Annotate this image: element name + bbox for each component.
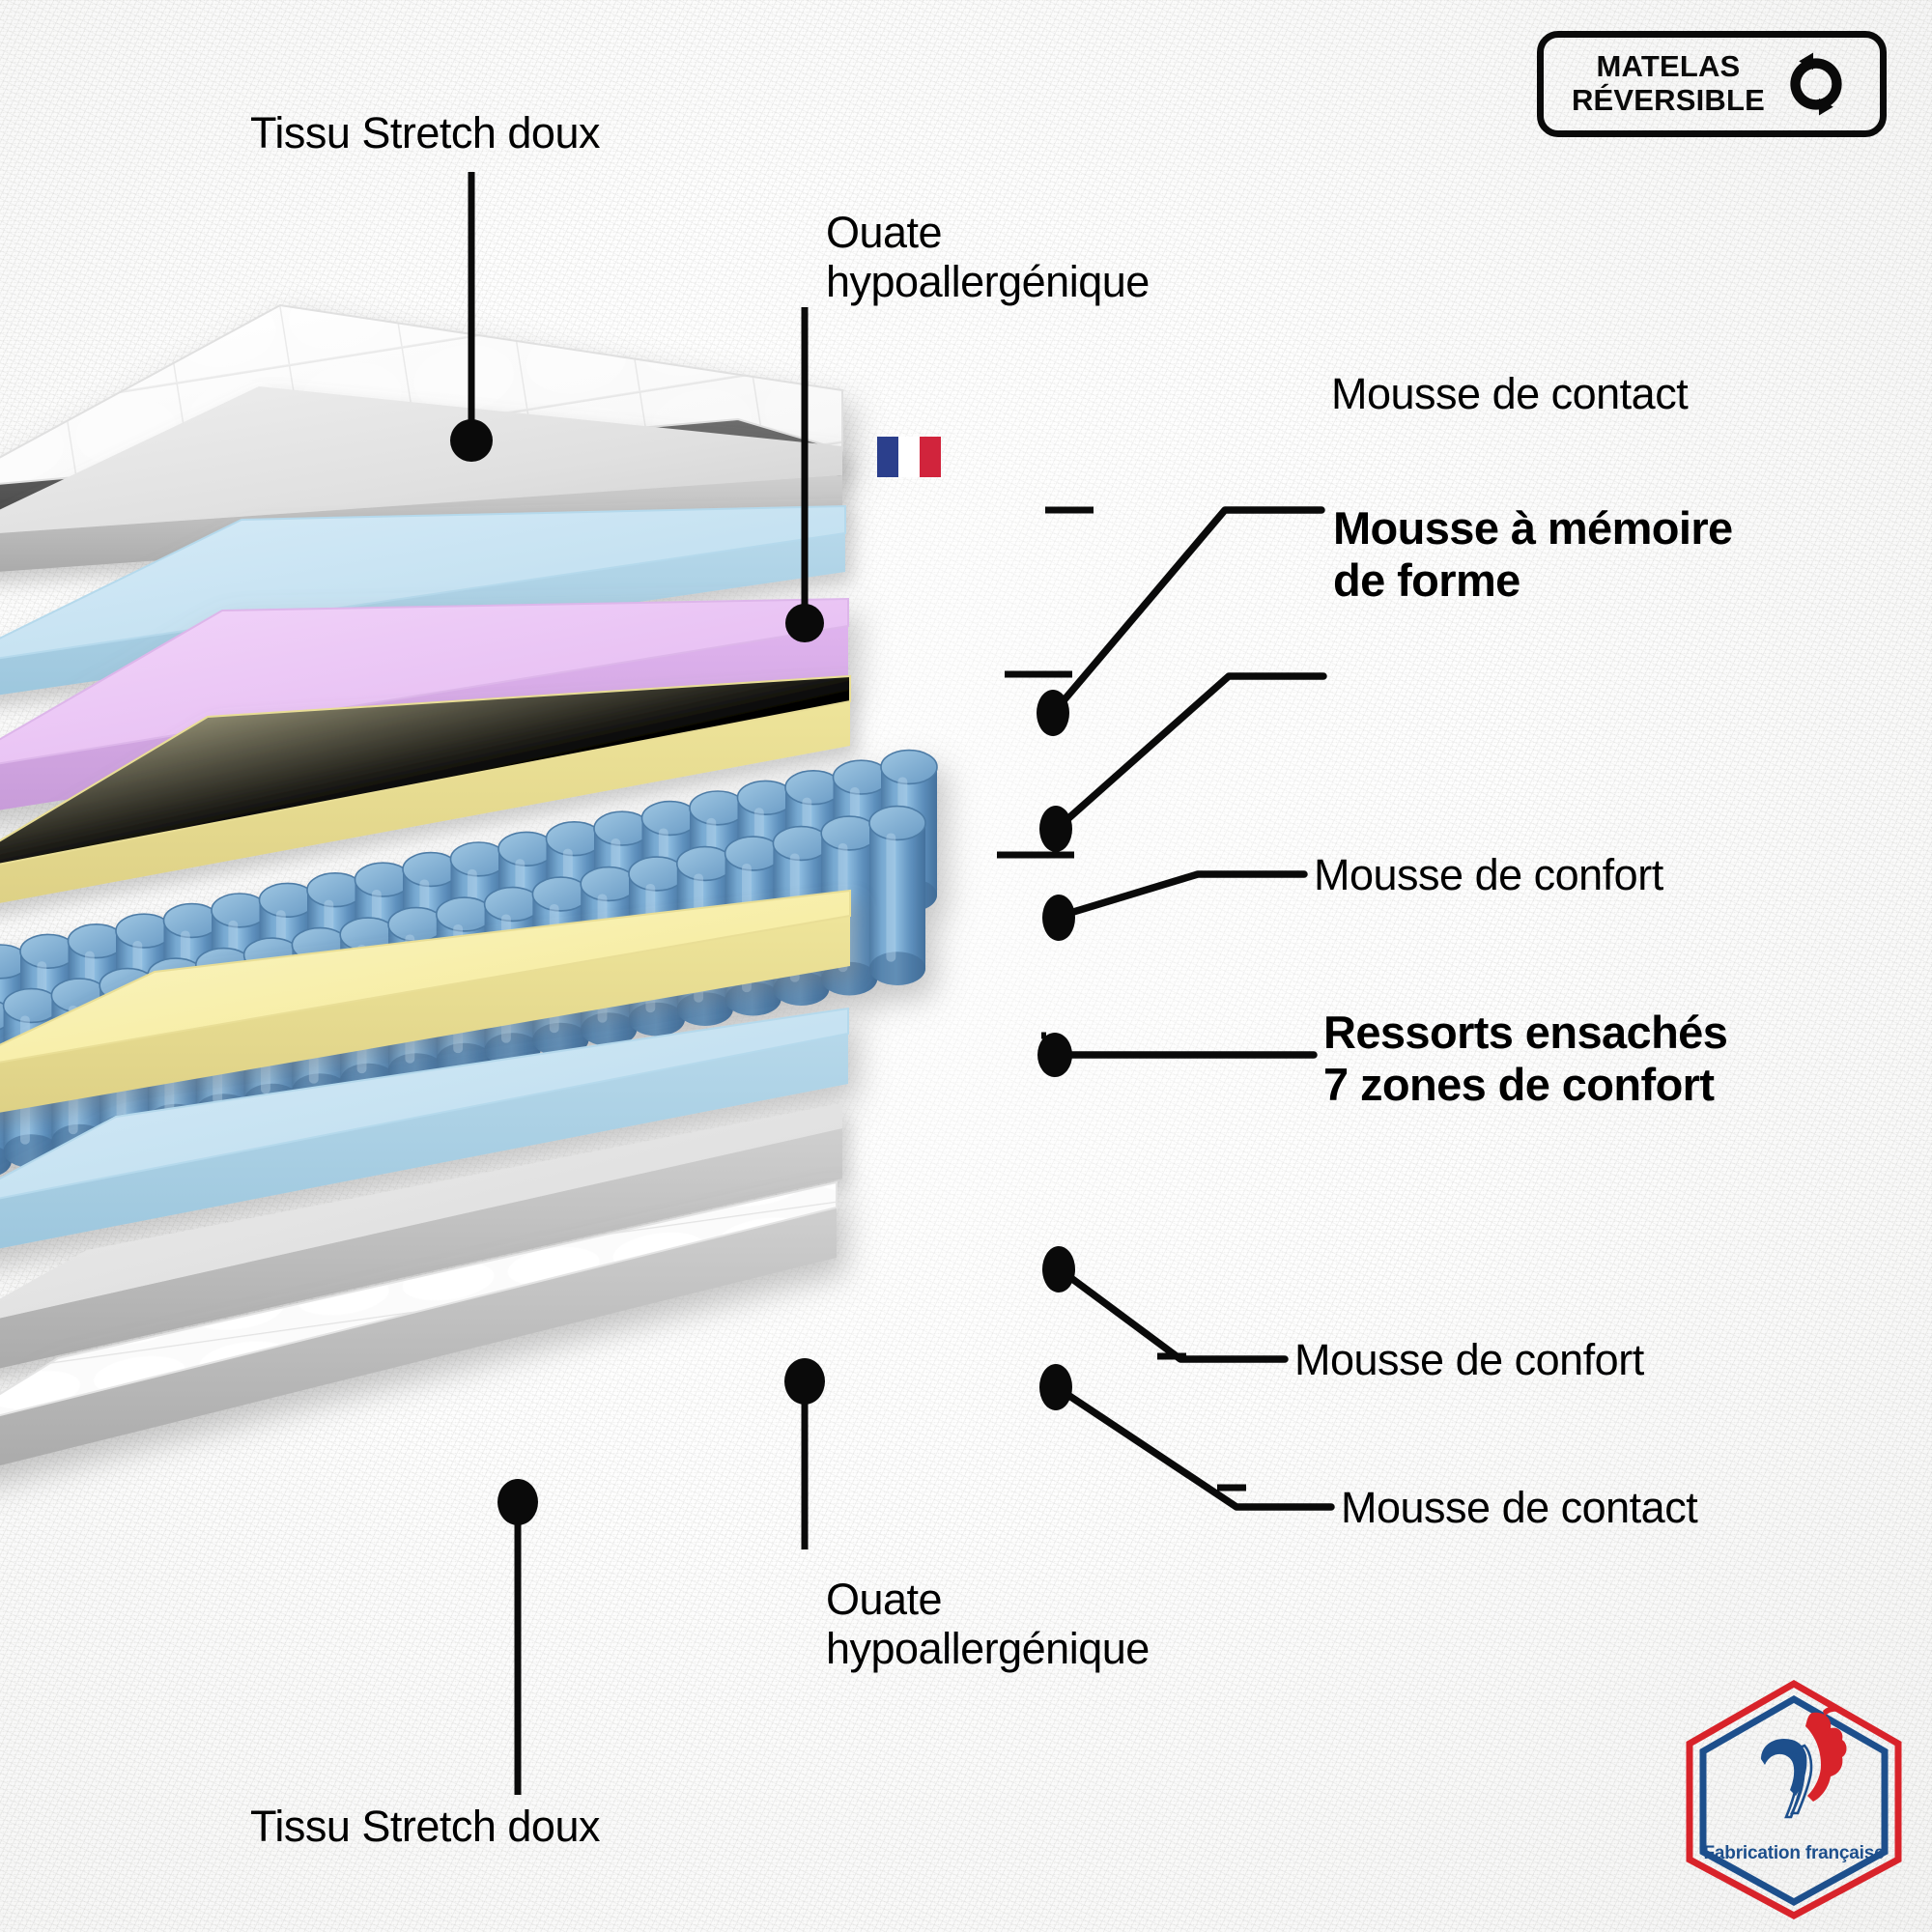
label-contact-foam-top: Mousse de contact (1331, 369, 1688, 418)
elbow-contact-bottom (1058, 1388, 1331, 1507)
label-top-wadding: Ouate hypoallergénique (826, 208, 1150, 307)
layer-top-contact-foam (0, 506, 845, 703)
leader-elbows (1055, 510, 1331, 1507)
pocket-spring (834, 760, 890, 922)
reversible-badge-text: MATELAS RÉVERSIBLE (1572, 50, 1765, 117)
pocket-spring (403, 853, 459, 1014)
layer-bottom-comfort-foam (0, 891, 850, 1122)
pocket-spring (869, 807, 925, 985)
pocket-spring (212, 894, 268, 1055)
pocket-spring (785, 771, 841, 932)
dot-memory (1039, 806, 1072, 852)
pocket-spring (532, 877, 588, 1056)
pocket-spring (340, 918, 396, 1096)
pocket-spring (581, 867, 637, 1046)
label-top-fabric: Tissu Stretch doux (250, 108, 600, 157)
elbow-contact-top (1055, 510, 1321, 711)
label-bottom-wadding: Ouate hypoallergénique (826, 1575, 1150, 1674)
pocket-spring (0, 999, 12, 1178)
layer-top-comfort-foam (0, 676, 850, 914)
layer-bottom-quilted-cover (0, 1182, 837, 1480)
dot-contact-bottom (1039, 1364, 1072, 1410)
pocket-spring (116, 914, 172, 1075)
french-badge-caption: Fabrication française (1678, 1843, 1910, 1864)
layer-bottom-wadding (0, 1103, 842, 1381)
label-memory-foam: Mousse à mémoire de forme (1333, 502, 1733, 606)
layer-top-wadding (0, 386, 842, 576)
pocket-spring (244, 938, 300, 1117)
mattress-layer-diagram: Tissu Stretch doux Ouate hypoallergéniqu… (0, 0, 1932, 1932)
pocket-spring (0, 945, 29, 1106)
pocket-spring (260, 883, 316, 1044)
pocket-spring (4, 989, 60, 1168)
label-contact-foam-bottom: Mousse de contact (1341, 1483, 1697, 1532)
french-made-badge: Fabrication française (1678, 1676, 1910, 1922)
pocket-spring (148, 958, 204, 1137)
label-comfort-foam-bottom: Mousse de confort (1294, 1335, 1644, 1384)
dot-bottom-fabric (497, 1479, 538, 1525)
layer-memory-foam (0, 599, 848, 819)
leader-dots (450, 419, 1075, 1525)
pocket-spring (196, 949, 252, 1127)
pocket-spring (547, 822, 603, 983)
label-springs: Ressorts ensachés 7 zones de confort (1323, 1007, 1727, 1110)
pocket-spring (773, 827, 829, 1006)
pocket-spring (881, 751, 937, 912)
french-hexagon-frame (1678, 1676, 1910, 1922)
pocket-spring (725, 837, 781, 1015)
pocket-spring (69, 924, 125, 1086)
pocket-spring (355, 863, 412, 1024)
pocket-spring (738, 781, 794, 942)
dot-comfort-top (1042, 895, 1075, 941)
pocket-spring (388, 908, 444, 1087)
layer-pocket-springs (0, 751, 937, 1188)
pocket-spring (451, 842, 507, 1004)
pocket-spring (642, 802, 698, 963)
dot-contact-top (1037, 690, 1069, 736)
pocket-spring (99, 969, 156, 1148)
elbow-memory (1058, 676, 1323, 828)
pocket-spring (677, 847, 733, 1026)
pocket-spring (51, 979, 107, 1157)
elbow-comfort-bottom (1061, 1270, 1285, 1359)
label-bottom-fabric: Tissu Stretch doux (250, 1802, 600, 1851)
layer-top-quilted-cover (0, 305, 842, 518)
reversible-arrows-icon (1780, 48, 1852, 120)
pocket-spring (485, 888, 541, 1066)
elbow-comfort-top (1061, 874, 1304, 916)
pocket-spring (307, 873, 363, 1035)
leader-lines (471, 172, 1246, 1795)
dot-bottom-wadding (784, 1358, 825, 1405)
dot-springs (1037, 1033, 1072, 1077)
layer-bottom-contact-foam (0, 1009, 848, 1260)
dot-top-wadding (785, 604, 824, 642)
reversible-badge: MATELAS RÉVERSIBLE (1537, 31, 1887, 137)
pocket-spring (164, 904, 220, 1065)
pocket-spring (629, 857, 685, 1036)
label-comfort-foam-top: Mousse de confort (1314, 850, 1663, 899)
pocket-spring (690, 791, 746, 952)
pocket-spring (437, 897, 493, 1076)
pocket-spring (20, 934, 76, 1095)
pocket-spring (498, 832, 554, 993)
dot-top-fabric (450, 419, 493, 462)
pocket-spring (594, 811, 650, 973)
french-flag-tag (877, 437, 941, 477)
pocket-spring (292, 928, 348, 1107)
dot-comfort-bottom (1042, 1246, 1075, 1293)
pocket-spring (821, 816, 877, 995)
